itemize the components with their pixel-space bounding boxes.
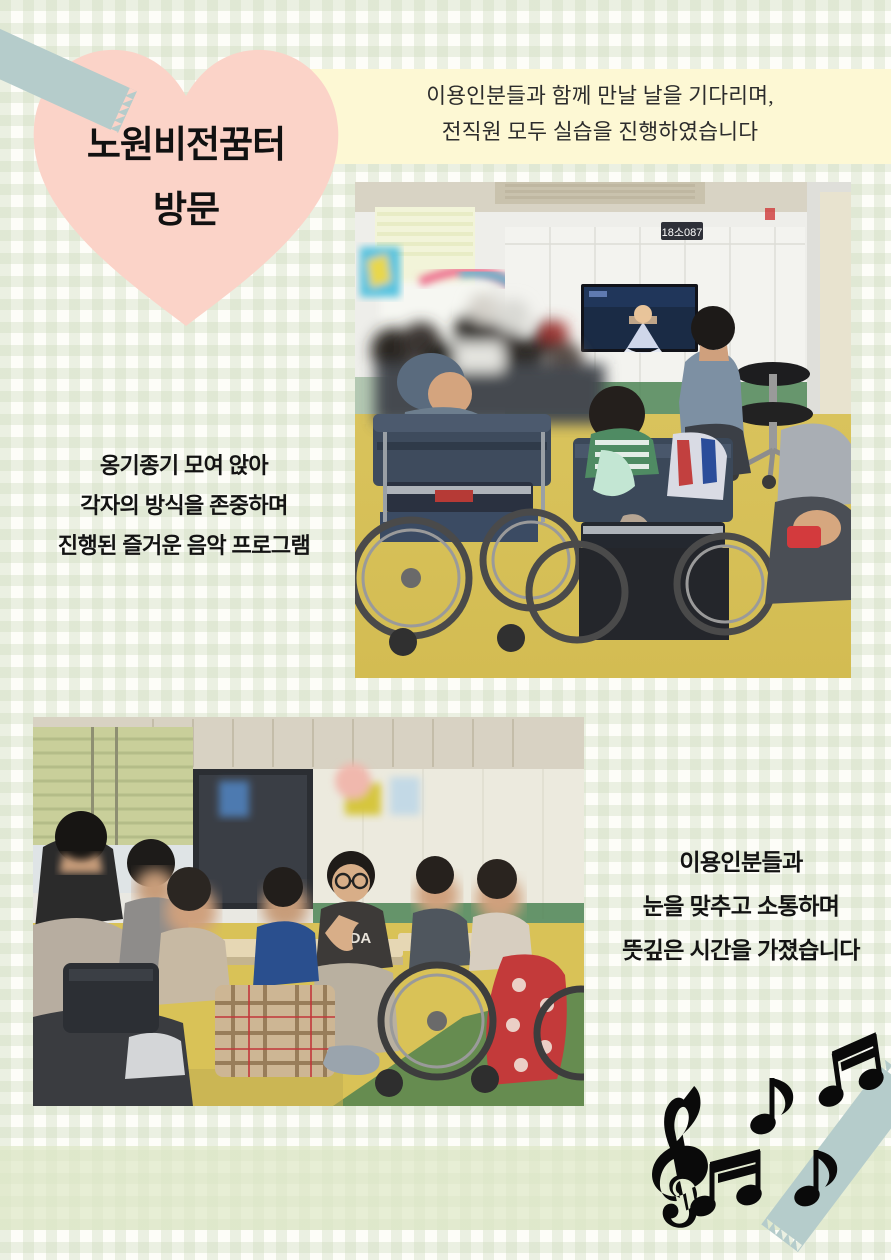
beamed-eighth-notes-icon-2 [808,1032,890,1112]
music-notes-decoration [620,1020,891,1240]
svg-text:18소087: 18소087 [662,226,703,239]
page-title: 노원비전꿈터 방문 [26,112,346,242]
poster-canvas: 노원비전꿈터 방문 이용인분들과 함께 만날 날을 기다리며, 전직원 모두 실… [0,0,891,1260]
caption-right-text: 이용인분들과 눈을 맞추고 소통하며 뜻깊은 시간을 가졌습니다 [596,840,886,972]
eighth-note-icon [748,1078,794,1138]
banner-text: 이용인분들과 함께 만날 날을 기다리며, 전직원 모두 실습을 진행하였습니다 [330,78,870,150]
caption-left-text: 옹기종기 모여 앉아 각자의 방식을 존중하며 진행된 즐거운 음악 프로그램 [24,446,344,566]
photo-music-program: 18소087 [355,182,851,678]
photo-group-session: RDA [33,717,584,1106]
eighth-note-icon-2 [792,1150,838,1210]
